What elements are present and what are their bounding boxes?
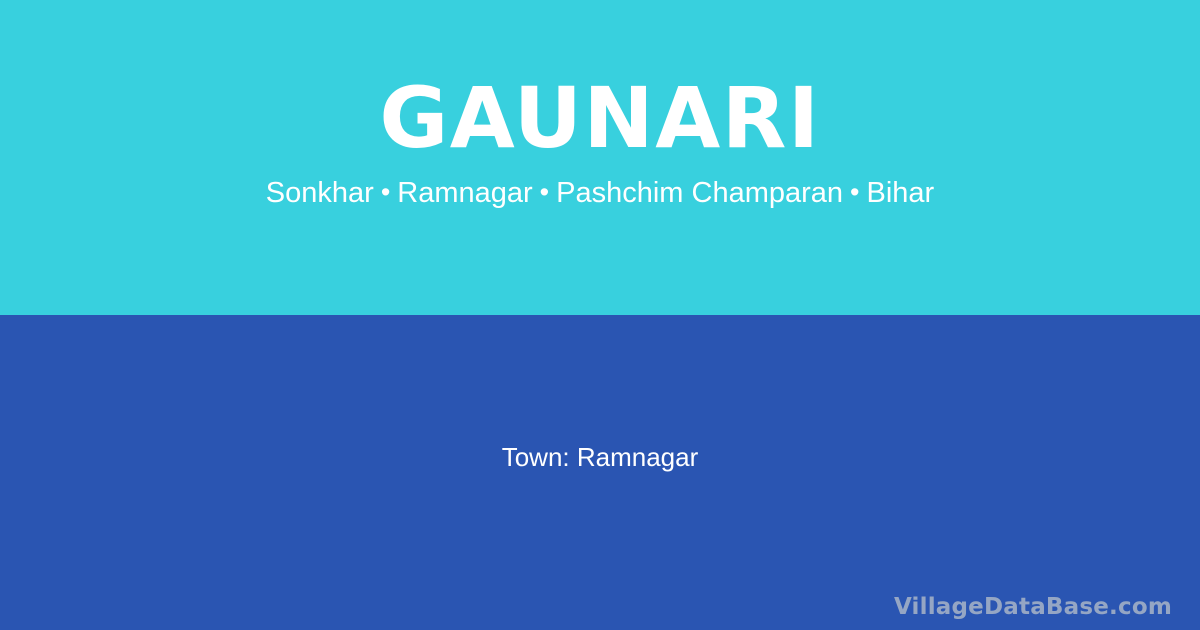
town-detail: Town: Ramnagar xyxy=(502,441,699,475)
detail-panel: Town: Ramnagar VillageDataBase.com xyxy=(0,315,1200,630)
breadcrumb-item-village: Sonkhar xyxy=(266,177,374,209)
village-info-card: GAUNARI Sonkhar•Ramnagar•Pashchim Champa… xyxy=(0,0,1200,630)
breadcrumb: Sonkhar•Ramnagar•Pashchim Champaran•Biha… xyxy=(266,176,934,211)
breadcrumb-separator: • xyxy=(374,176,397,208)
breadcrumb-separator: • xyxy=(533,176,556,208)
page-title: GAUNARI xyxy=(379,76,820,162)
breadcrumb-item-state: Bihar xyxy=(867,177,935,209)
breadcrumb-item-town: Ramnagar xyxy=(397,177,532,209)
breadcrumb-item-district: Pashchim Champaran xyxy=(556,177,843,209)
hero-banner: GAUNARI Sonkhar•Ramnagar•Pashchim Champa… xyxy=(0,0,1200,315)
breadcrumb-separator: • xyxy=(843,176,866,208)
site-watermark: VillageDataBase.com xyxy=(894,594,1172,620)
